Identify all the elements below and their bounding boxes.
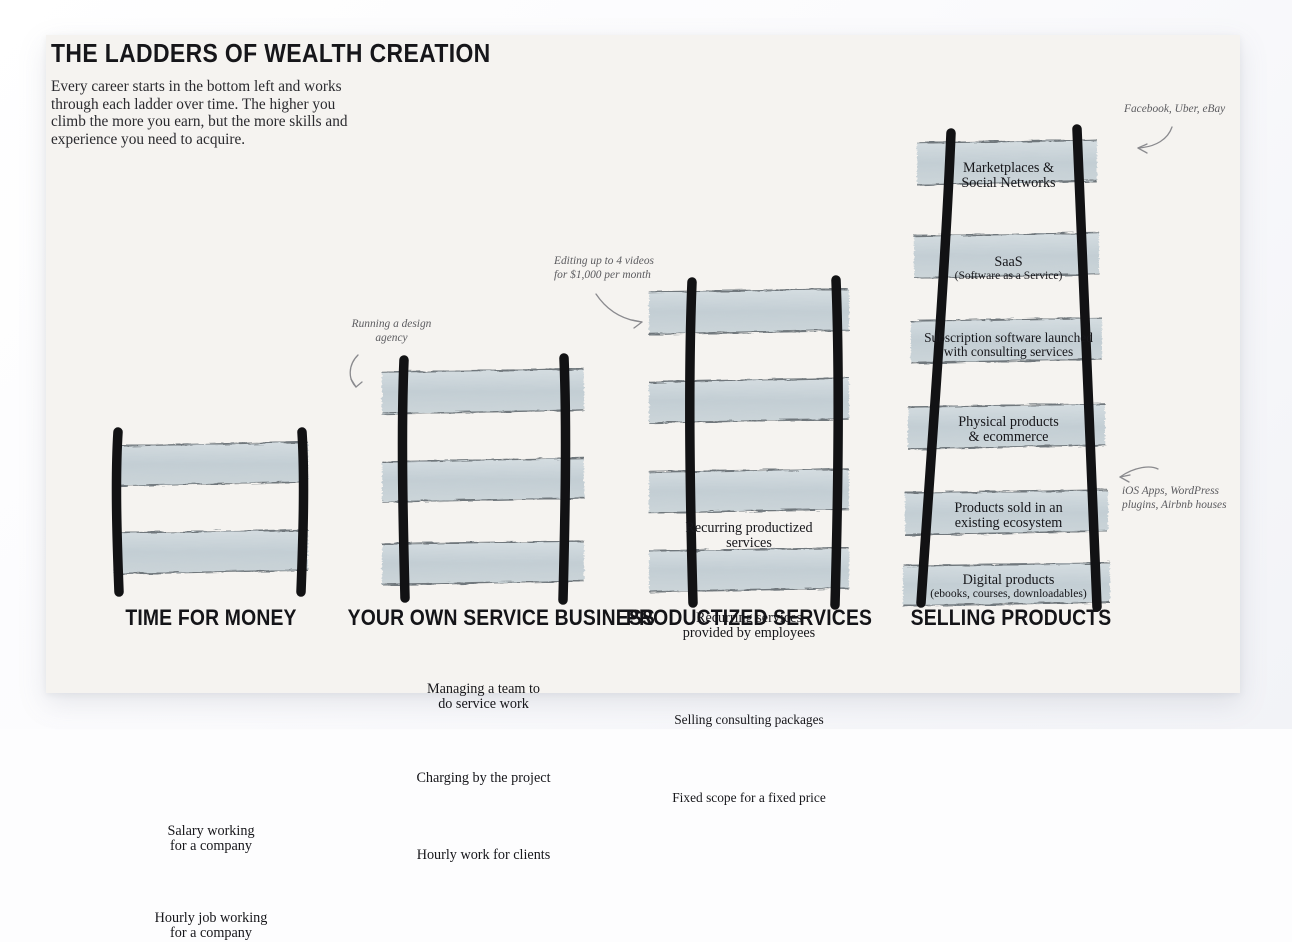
rung-main: Selling consulting packages	[644, 713, 854, 727]
rung-band	[382, 541, 584, 585]
ladder-rail-right	[563, 358, 566, 600]
caption-time-for-money: TIME FOR MONEY	[119, 605, 304, 631]
rung-band	[649, 378, 849, 423]
annotation-line: Facebook, Uber, eBay	[1124, 103, 1225, 115]
ladder-time-for-money: Salary working for a company Hourly job …	[106, 420, 316, 610]
caption-service-business: YOUR OWN SERVICE BUSINESS	[348, 605, 621, 631]
annotation-design-agency: Running a design agency	[334, 318, 449, 346]
annotation-line: iOS Apps, WordPress	[1122, 485, 1219, 497]
rung-sub: do service work	[376, 697, 591, 712]
rung-label: Selling consulting packages	[644, 713, 854, 727]
ladder-rail-left	[116, 432, 119, 592]
rung-band	[114, 530, 308, 574]
annotation-arrow-design-agency	[346, 353, 396, 395]
rung-main: Hourly work for clients	[376, 848, 591, 863]
rung-sub: for a company	[106, 839, 316, 854]
annotation-line: Editing up to 4 videos	[554, 255, 654, 267]
caption-selling-products: SELLING PRODUCTS	[905, 605, 1116, 631]
rung-main: Salary working	[106, 824, 316, 839]
ladder-rail-right	[301, 432, 304, 592]
annotation-line: agency	[375, 332, 407, 344]
page-background: THE LADDERS OF WEALTH CREATION Every car…	[0, 0, 1292, 729]
rung-band	[649, 548, 849, 592]
ladder-rail-left	[690, 282, 693, 603]
rung-band	[917, 140, 1097, 185]
rung-label: Hourly work for clients	[376, 848, 591, 863]
ladders-stage: Salary working for a company Hourly job …	[46, 35, 1240, 693]
annotation-line: Running a design	[352, 318, 432, 330]
annotation-line: plugins, Airbnb houses	[1122, 499, 1227, 511]
rung-band	[903, 563, 1110, 606]
ladder-productized-services: Recurring productized services Recurring…	[644, 270, 854, 615]
rung-band	[382, 458, 584, 502]
rung-sub: for a company	[106, 926, 316, 941]
ladder-rail-right	[835, 280, 838, 605]
caption-productized-services: PRODUCTIZED SERVICES	[626, 605, 872, 631]
annotation-arrow-video-editing	[594, 290, 654, 332]
rung-band	[114, 442, 308, 486]
annotation-line: for $1,000 per month	[554, 269, 651, 281]
rung-main: Managing a team to	[376, 682, 591, 697]
rung-main: Charging by the project	[376, 771, 591, 786]
rung-label: Fixed scope for a fixed price	[644, 791, 854, 805]
rung-label: Hourly job working for a company	[106, 911, 316, 942]
ladder-rail-left	[402, 360, 405, 598]
rung-main: Fixed scope for a fixed price	[644, 791, 854, 805]
ladder-rail-right	[1077, 129, 1097, 607]
ladder-selling-products: Marketplaces & Social Networks SaaS (Sof…	[901, 95, 1116, 615]
annotation-marketplaces-examples: Facebook, Uber, eBay	[1124, 103, 1284, 117]
rung-label: Charging by the project	[376, 771, 591, 786]
rung-band	[649, 289, 849, 334]
ladder-service-business: Managing a team to do service work Charg…	[376, 350, 591, 612]
rung-label: Salary working for a company	[106, 824, 316, 855]
rung-band	[649, 469, 849, 513]
rung-band	[905, 490, 1108, 535]
annotation-video-editing: Editing up to 4 videos for $1,000 per mo…	[554, 255, 714, 283]
annotation-arrow-marketplaces	[1128, 123, 1180, 157]
annotation-ecosystem-examples: iOS Apps, WordPress plugins, Airbnb hous…	[1122, 485, 1292, 513]
rung-band	[382, 369, 584, 414]
rung-label: Managing a team to do service work	[376, 682, 591, 713]
rung-main: Hourly job working	[106, 911, 316, 926]
